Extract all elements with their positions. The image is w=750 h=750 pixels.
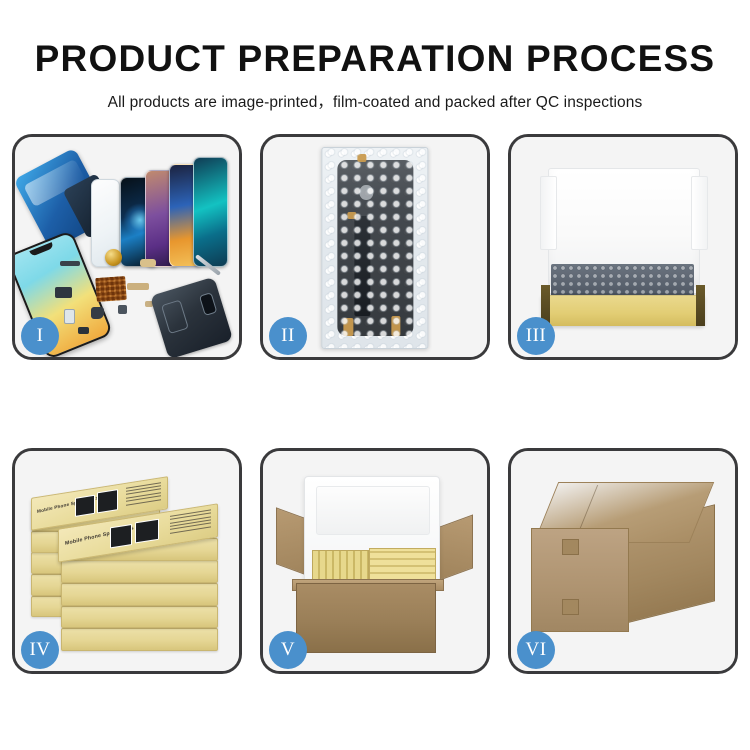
copper-connector-part bbox=[140, 259, 156, 267]
carton-front-wall bbox=[296, 583, 436, 653]
tape-strip bbox=[348, 212, 356, 219]
carton-front-face bbox=[531, 528, 629, 632]
phone-back-housing bbox=[150, 277, 234, 357]
stacked-box bbox=[61, 606, 217, 629]
step-panel-3: III bbox=[508, 134, 738, 360]
step-badge-1: I bbox=[21, 317, 59, 355]
box-art-screen bbox=[96, 490, 117, 514]
box-spec-lines bbox=[126, 482, 161, 511]
phone-screen-teal bbox=[193, 157, 228, 267]
carton-tape-tab bbox=[562, 599, 579, 615]
wrapped-screen bbox=[337, 160, 413, 336]
open-carton-with-foam bbox=[276, 469, 473, 654]
tape-strip bbox=[343, 318, 352, 336]
open-inner-box bbox=[538, 168, 708, 326]
gold-coil-part bbox=[105, 249, 122, 266]
header: PRODUCT PREPARATION PROCESS All products… bbox=[0, 0, 750, 112]
step-panel-5: V bbox=[260, 448, 490, 674]
stacked-box bbox=[61, 583, 217, 606]
box-art-screen bbox=[134, 518, 158, 543]
screen-flex-cable bbox=[354, 216, 371, 316]
screw-grid-part bbox=[95, 276, 127, 302]
sealed-shipping-carton bbox=[531, 482, 715, 636]
process-steps-grid: I II bbox=[7, 134, 743, 674]
bubble-wrap-bag bbox=[321, 147, 428, 349]
phone-screen-fan bbox=[118, 147, 239, 267]
flex-cable-part bbox=[60, 261, 80, 266]
step-badge-4: IV bbox=[21, 631, 59, 669]
page-title: PRODUCT PREPARATION PROCESS bbox=[0, 40, 750, 77]
bracket-part bbox=[78, 327, 89, 334]
page-subtitle: All products are image-printed，film-coat… bbox=[0, 90, 750, 112]
box-art-screen bbox=[109, 524, 132, 548]
stacked-box bbox=[61, 560, 217, 583]
sim-tray-part bbox=[64, 309, 75, 324]
stacked-box bbox=[61, 628, 217, 651]
step-badge-3: III bbox=[517, 317, 555, 355]
carton-tape-tab bbox=[562, 539, 579, 555]
step-panel-6: VI bbox=[508, 448, 738, 674]
box-art-screen bbox=[75, 495, 95, 518]
box-right-edge bbox=[696, 285, 705, 326]
yellow-box-front bbox=[541, 295, 704, 327]
step-badge-6: VI bbox=[517, 631, 555, 669]
step-badge-2: II bbox=[269, 317, 307, 355]
step-badge-5: V bbox=[269, 631, 307, 669]
chip-part bbox=[118, 305, 127, 314]
ribbon-cable-part bbox=[127, 283, 149, 290]
box-spec-lines bbox=[169, 510, 210, 541]
stacked-boxes: Mobile Phone Spare Parts Mobile Phone Sp… bbox=[31, 473, 224, 653]
tape-strip bbox=[392, 316, 400, 336]
step-panel-4: Mobile Phone Spare Parts Mobile Phone Sp… bbox=[12, 448, 242, 674]
camera-module-part bbox=[55, 287, 72, 298]
step-panel-2: II bbox=[260, 134, 490, 360]
tape-strip bbox=[357, 154, 366, 162]
step-panel-1: I bbox=[12, 134, 242, 360]
speaker-part bbox=[91, 307, 104, 319]
product-preparation-infographic: PRODUCT PREPARATION PROCESS All products… bbox=[0, 0, 750, 750]
